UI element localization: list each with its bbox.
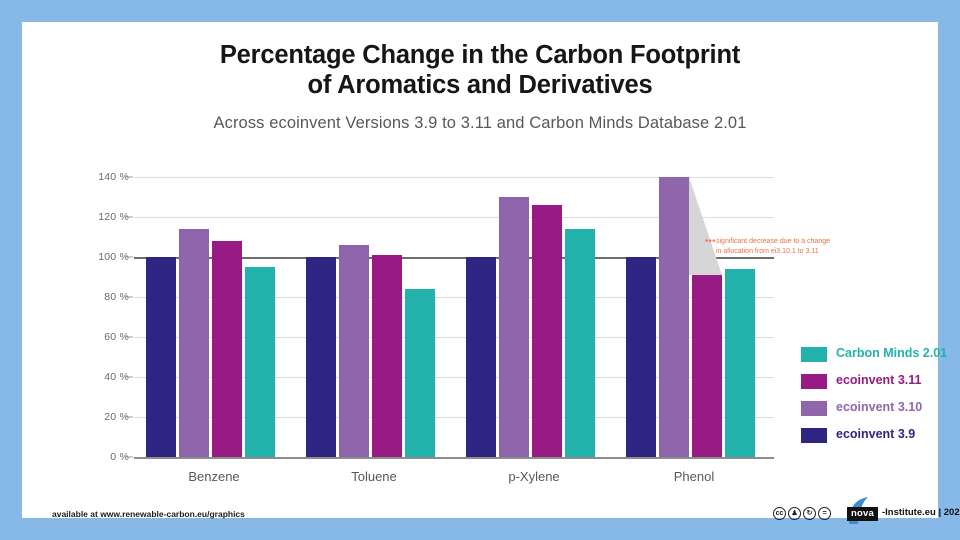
annotation-line-2: in allocation from ei3.10.1 to 3.11 bbox=[716, 247, 876, 257]
y-tick-mark-0 bbox=[125, 457, 133, 458]
legend-label-3: ecoinvent 3.9 bbox=[836, 427, 915, 441]
legend-swatch-2 bbox=[801, 401, 827, 416]
bar-chart-plot-area: 0 %20 %40 %60 %80 %100 %120 %140 % Benze… bbox=[134, 177, 774, 457]
footer-branding: cc ♟ ↻ = nova -Institute.eu | 2025 bbox=[773, 502, 912, 524]
legend-label-1: ecoinvent 3.11 bbox=[836, 373, 921, 387]
legend-swatch-3 bbox=[801, 428, 827, 443]
y-tick-mark-80 bbox=[125, 297, 133, 298]
page-title-line-1: Percentage Change in the Carbon Footprin… bbox=[22, 40, 938, 70]
slide-frame: Percentage Change in the Carbon Footprin… bbox=[0, 0, 960, 540]
annotation-marker: *** bbox=[705, 238, 716, 247]
x-axis-label-p-xylene: p-Xylene bbox=[454, 469, 614, 484]
x-axis-label-benzene: Benzene bbox=[134, 469, 294, 484]
page-title: Percentage Change in the Carbon Footprin… bbox=[22, 40, 938, 100]
annotation-line-1: significant decrease due to a change bbox=[716, 237, 876, 247]
y-tick-mark-120 bbox=[125, 217, 133, 218]
page-title-line-2: of Aromatics and Derivatives bbox=[22, 70, 938, 100]
nova-wordmark: nova bbox=[847, 507, 878, 521]
footer-source-text: available at www.renewable-carbon.eu/gra… bbox=[52, 509, 245, 519]
gridline-0 bbox=[134, 457, 774, 459]
nova-institute-text: -Institute.eu | 2025 bbox=[882, 507, 960, 518]
y-tick-mark-20 bbox=[125, 417, 133, 418]
creative-commons-icons: cc ♟ ↻ = bbox=[773, 507, 831, 520]
y-tick-mark-100 bbox=[125, 257, 133, 258]
cc-icon: cc bbox=[773, 507, 786, 520]
legend-swatch-1 bbox=[801, 374, 827, 389]
annotation-text: significant decrease due to a change in … bbox=[716, 237, 876, 256]
x-axis-label-toluene: Toluene bbox=[294, 469, 454, 484]
nova-institute-logo: nova -Institute.eu | 2025 bbox=[836, 502, 912, 524]
legend-label-2: ecoinvent 3.10 bbox=[836, 400, 922, 414]
legend-label-0: Carbon Minds 2.01 bbox=[836, 346, 947, 360]
by-icon: ♟ bbox=[788, 507, 801, 520]
slide-canvas: Percentage Change in the Carbon Footprin… bbox=[22, 22, 938, 518]
y-tick-mark-40 bbox=[125, 377, 133, 378]
legend-swatch-0 bbox=[801, 347, 827, 362]
page-subtitle: Across ecoinvent Versions 3.9 to 3.11 an… bbox=[22, 114, 938, 133]
nd-icon: = bbox=[818, 507, 831, 520]
y-tick-mark-60 bbox=[125, 337, 133, 338]
x-axis-labels: BenzeneToluenep-XylenePhenol bbox=[134, 177, 774, 457]
x-axis-label-phenol: Phenol bbox=[614, 469, 774, 484]
sa-icon: ↻ bbox=[803, 507, 816, 520]
y-tick-mark-140 bbox=[125, 177, 133, 178]
